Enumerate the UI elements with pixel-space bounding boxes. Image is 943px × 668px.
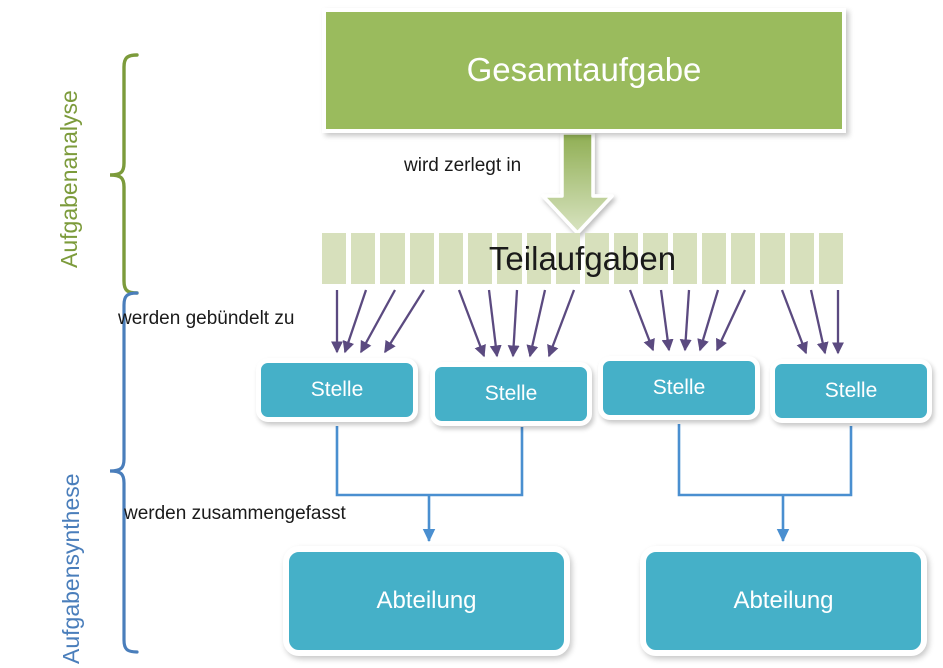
- arrows-teilaufgaben-to-stelle-4: [782, 290, 838, 353]
- arrows-teilaufgaben-to-stelle-2: [459, 290, 574, 356]
- connector-stellen-to-abteilung-1: [337, 426, 522, 541]
- node-abteilung-1[interactable]: Abteilung: [283, 546, 570, 656]
- node-teilaufgaben-label: Teilaufgaben: [322, 233, 843, 284]
- node-stelle-3-label: Stelle: [653, 376, 706, 399]
- node-stelle-2[interactable]: Stelle: [430, 362, 592, 426]
- node-abteilung-2-label: Abteilung: [733, 588, 833, 614]
- arrows-teilaufgaben-to-stelle-3: [630, 290, 745, 350]
- node-stelle-1-label: Stelle: [311, 378, 364, 401]
- node-stelle-2-label: Stelle: [485, 382, 538, 405]
- node-stelle-3[interactable]: Stelle: [598, 356, 760, 420]
- diagram-canvas: Aufgabenanalyse Aufgabensynthese Gesamta…: [0, 0, 943, 668]
- node-abteilung-2[interactable]: Abteilung: [640, 546, 927, 656]
- connector-label-werden-zusammengefasst: werden zusammengefasst: [124, 503, 346, 525]
- node-gesamtaufgabe-label: Gesamtaufgabe: [467, 52, 702, 88]
- connector-label-werden-gebuendelt-zu: werden gebündelt zu: [118, 308, 294, 330]
- node-stelle-1[interactable]: Stelle: [256, 358, 418, 422]
- phase-label-aufgabenanalyse: Aufgabenanalyse: [56, 90, 83, 268]
- phase-label-aufgabensynthese: Aufgabensynthese: [58, 473, 85, 664]
- connector-stellen-to-abteilung-2: [679, 424, 851, 541]
- arrows-teilaufgaben-to-stelle-1: [337, 290, 424, 352]
- connector-label-wird-zerlegt-in: wird zerlegt in: [404, 155, 521, 177]
- brace-aufgabensynthese: [110, 293, 137, 652]
- node-abteilung-1-label: Abteilung: [376, 588, 476, 614]
- node-stelle-4[interactable]: Stelle: [770, 359, 932, 423]
- node-stelle-4-label: Stelle: [825, 379, 878, 402]
- brace-aufgabenanalyse: [110, 55, 137, 293]
- arrow-wird-zerlegt-in: [543, 133, 612, 233]
- node-gesamtaufgabe[interactable]: Gesamtaufgabe: [322, 8, 846, 133]
